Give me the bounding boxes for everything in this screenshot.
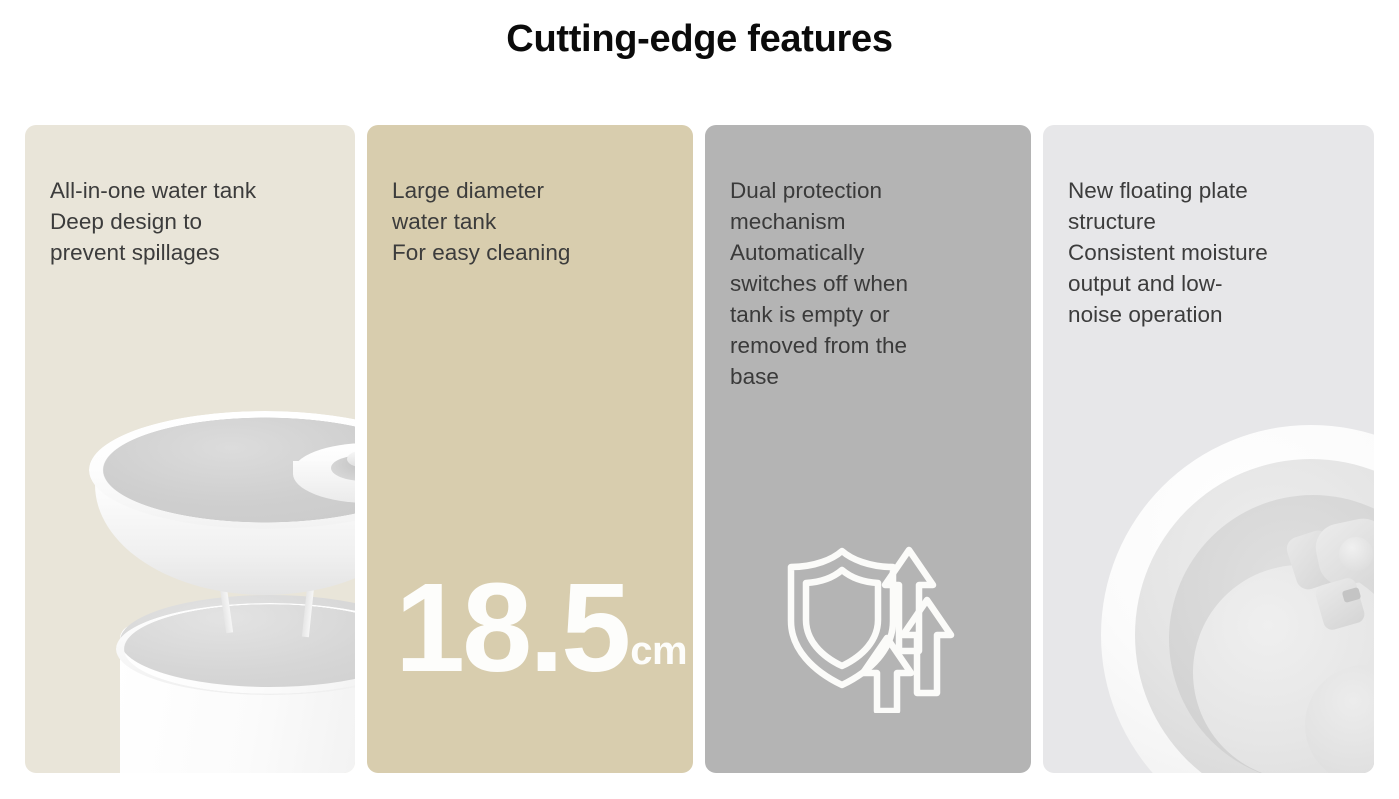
shield-inner-outline [806, 570, 878, 666]
feature-card-new-floating-plate-structure[interactable]: New floating plate structure Consistent … [1043, 125, 1374, 773]
feature-card-large-diameter-water-tank[interactable]: Large diameter water tank For easy clean… [367, 125, 693, 773]
plate-knob [1339, 537, 1373, 571]
feature-showcase-page: Cutting-edge features All-in-one water t… [0, 0, 1399, 799]
measurement-value: 18.5 [395, 579, 628, 677]
feature-card-list: All-in-one water tank Deep design to pre… [25, 125, 1374, 773]
feature-card-text: Dual protection mechanism Automatically … [705, 125, 1031, 392]
feature-card-text: Large diameter water tank For easy clean… [367, 125, 693, 268]
feature-card-dual-protection-mechanism[interactable]: Dual protection mechanism Automatically … [705, 125, 1031, 773]
measurement-unit: cm [630, 631, 687, 677]
page-title: Cutting-edge features [0, 18, 1399, 61]
feature-card-text: New floating plate structure Consistent … [1043, 125, 1374, 330]
feature-card-text: All-in-one water tank Deep design to pre… [25, 125, 355, 268]
measurement-callout: 18.5 cm [395, 579, 687, 677]
arrow-up-medium [903, 600, 951, 693]
shield-arrows-icon [779, 523, 969, 713]
feature-card-all-in-one-water-tank[interactable]: All-in-one water tank Deep design to pre… [25, 125, 355, 773]
